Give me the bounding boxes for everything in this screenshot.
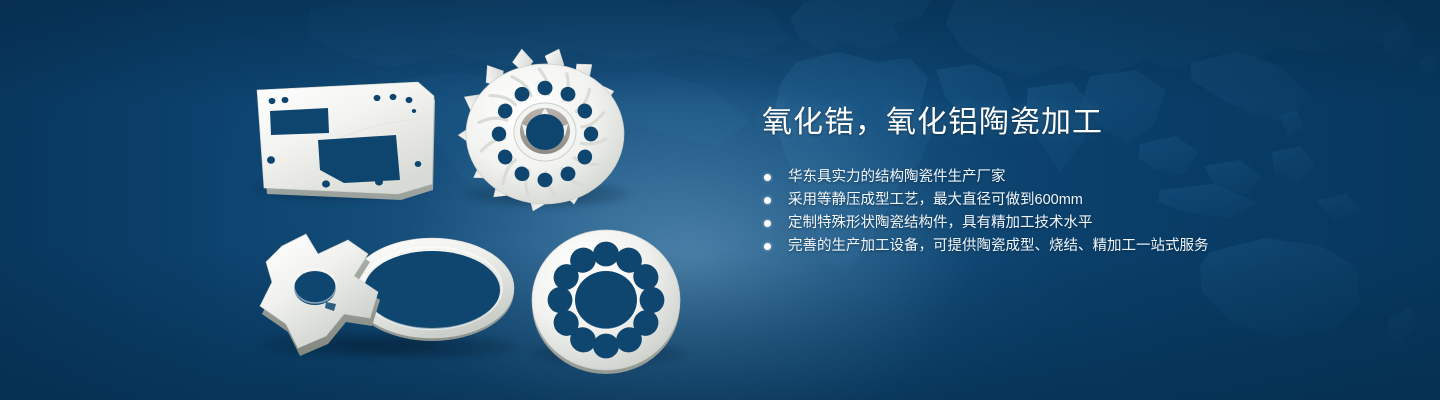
ceramic-perforated-disc <box>522 224 692 374</box>
banner-copy: 氧化锆，氧化铝陶瓷加工 华东具实力的结构陶瓷件生产厂家 采用等静压成型工艺，最大… <box>762 108 1362 258</box>
banner-bullet-list: 华东具实力的结构陶瓷件生产厂家 采用等静压成型工艺，最大直径可做到600mm 定… <box>764 166 1362 258</box>
bullet-text: 定制特殊形状陶瓷结构件，具有精加工技术水平 <box>788 215 1093 231</box>
list-item: 华东具实力的结构陶瓷件生产厂家 <box>764 166 1362 189</box>
list-item: 定制特殊形状陶瓷结构件，具有精加工技术水平 <box>764 212 1362 235</box>
bullet-dot-icon <box>764 174 771 181</box>
bullet-dot-icon <box>764 220 771 227</box>
banner-headline: 氧化锆，氧化铝陶瓷加工 <box>762 108 1362 138</box>
bullet-dot-icon <box>764 197 771 204</box>
list-item: 采用等静压成型工艺，最大直径可做到600mm <box>764 189 1362 212</box>
bullet-text: 完善的生产加工设备，可提供陶瓷成型、烧结、精加工一站式服务 <box>788 238 1209 254</box>
bullet-text: 采用等静压成型工艺，最大直径可做到600mm <box>788 192 1083 208</box>
ceramic-impeller <box>452 52 638 214</box>
ceramic-parts-group <box>0 0 760 400</box>
ceramic-plate <box>248 78 448 203</box>
ceramic-cross-part <box>252 232 422 362</box>
bullet-text: 华东具实力的结构陶瓷件生产厂家 <box>788 169 1006 185</box>
ceramic-processing-banner: 氧化锆，氧化铝陶瓷加工 华东具实力的结构陶瓷件生产厂家 采用等静压成型工艺，最大… <box>0 0 1440 400</box>
bullet-dot-icon <box>764 243 771 250</box>
list-item: 完善的生产加工设备，可提供陶瓷成型、烧结、精加工一站式服务 <box>764 235 1362 258</box>
